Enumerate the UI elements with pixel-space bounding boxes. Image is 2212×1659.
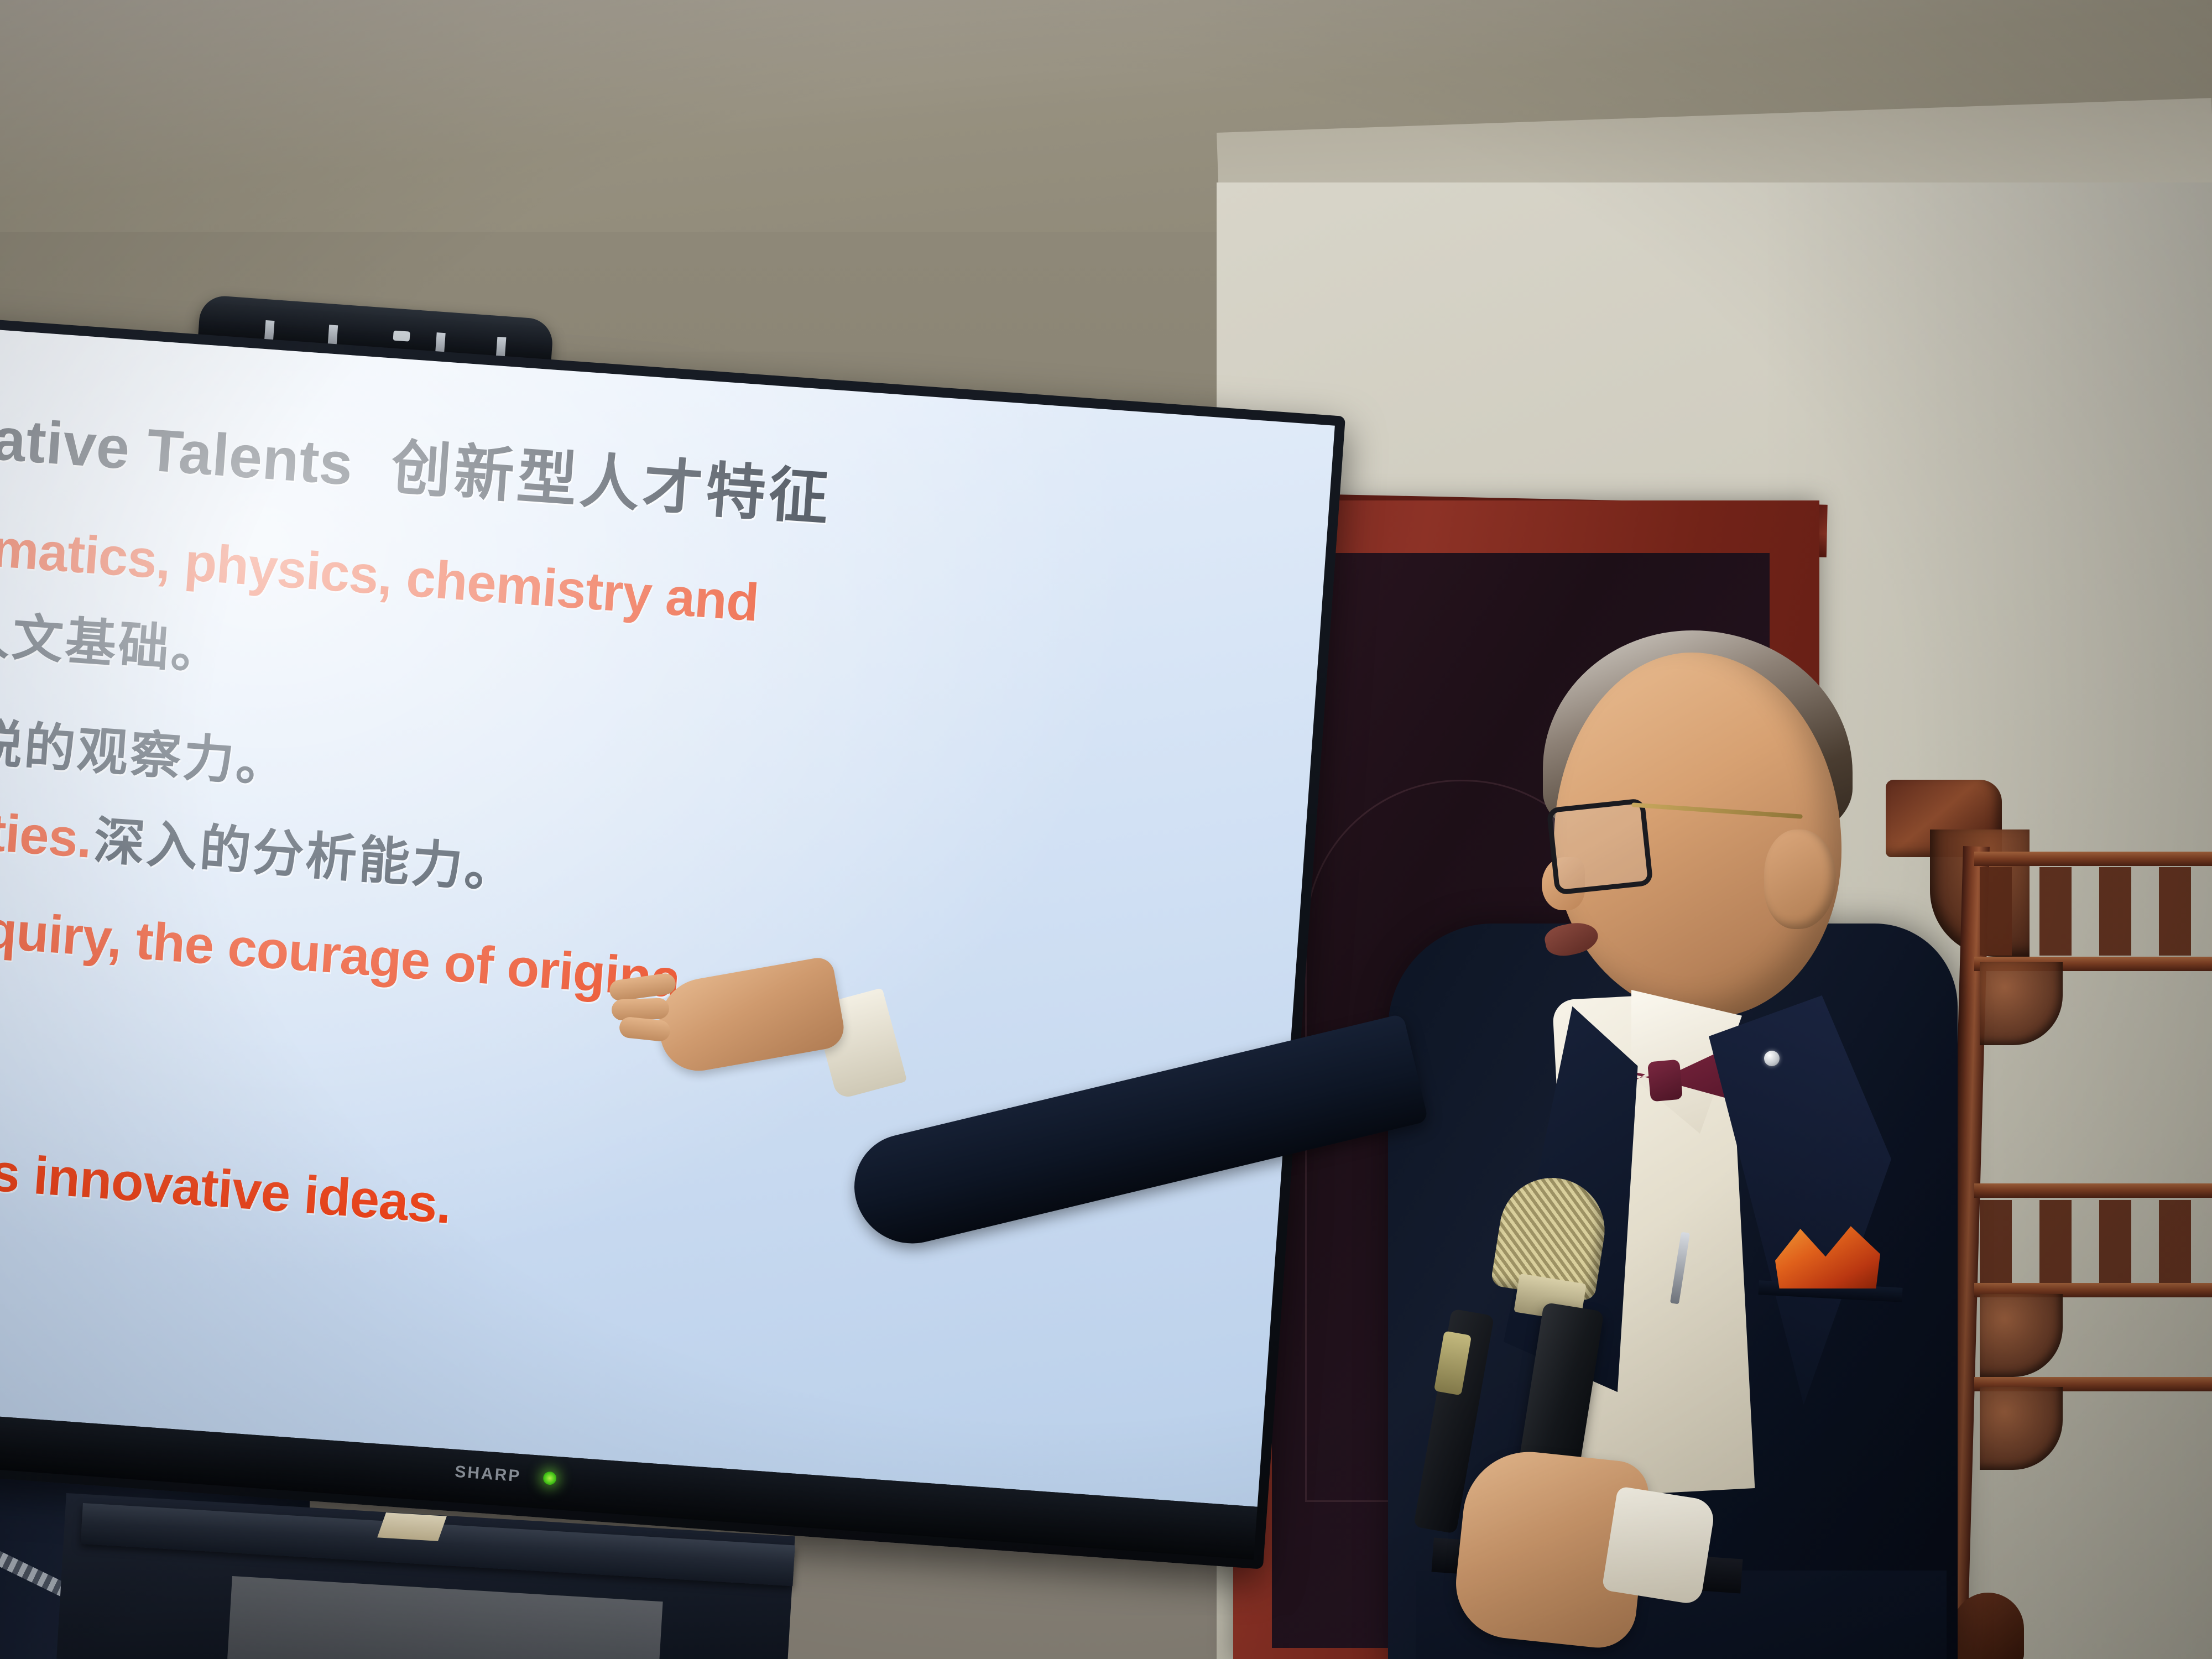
shelf-rail xyxy=(1974,852,2212,866)
glasses-icon xyxy=(1546,798,1653,895)
lapel-pin-icon xyxy=(1764,1051,1780,1066)
bullet-text-cn: 深入的分析能力。 xyxy=(92,812,519,899)
shelf-fretwork xyxy=(1980,867,2212,956)
bullet-text-en: ysis capabilities. xyxy=(0,781,93,869)
desk-paper xyxy=(377,1512,447,1541)
shelf-fretwork xyxy=(1980,1200,2212,1288)
display-screen[interactable]: s of Innovative Talents创新型人才特征 on in mat… xyxy=(0,320,1335,1506)
interactive-display[interactable]: s of Innovative Talents创新型人才特征 on in mat… xyxy=(0,310,1357,1620)
bow-tie-knot xyxy=(1647,1060,1683,1102)
slide-title-en: s of Innovative Talents xyxy=(0,385,355,498)
slide-title-cn: 创新型人才特征 xyxy=(389,434,834,532)
photo-scene: s of Innovative Talents创新型人才特征 on in mat… xyxy=(0,0,2212,1659)
shirt-cuff xyxy=(1601,1486,1717,1605)
camera-lens-icon xyxy=(393,331,410,342)
shelf-rail xyxy=(1974,1183,2212,1198)
presenter xyxy=(1322,664,2002,1659)
finger xyxy=(611,998,669,1021)
bullet-text-cn: 的数理化和人文基础。 xyxy=(0,587,226,681)
bullet-text-cn: 敏锐的观察力。 xyxy=(0,711,291,794)
